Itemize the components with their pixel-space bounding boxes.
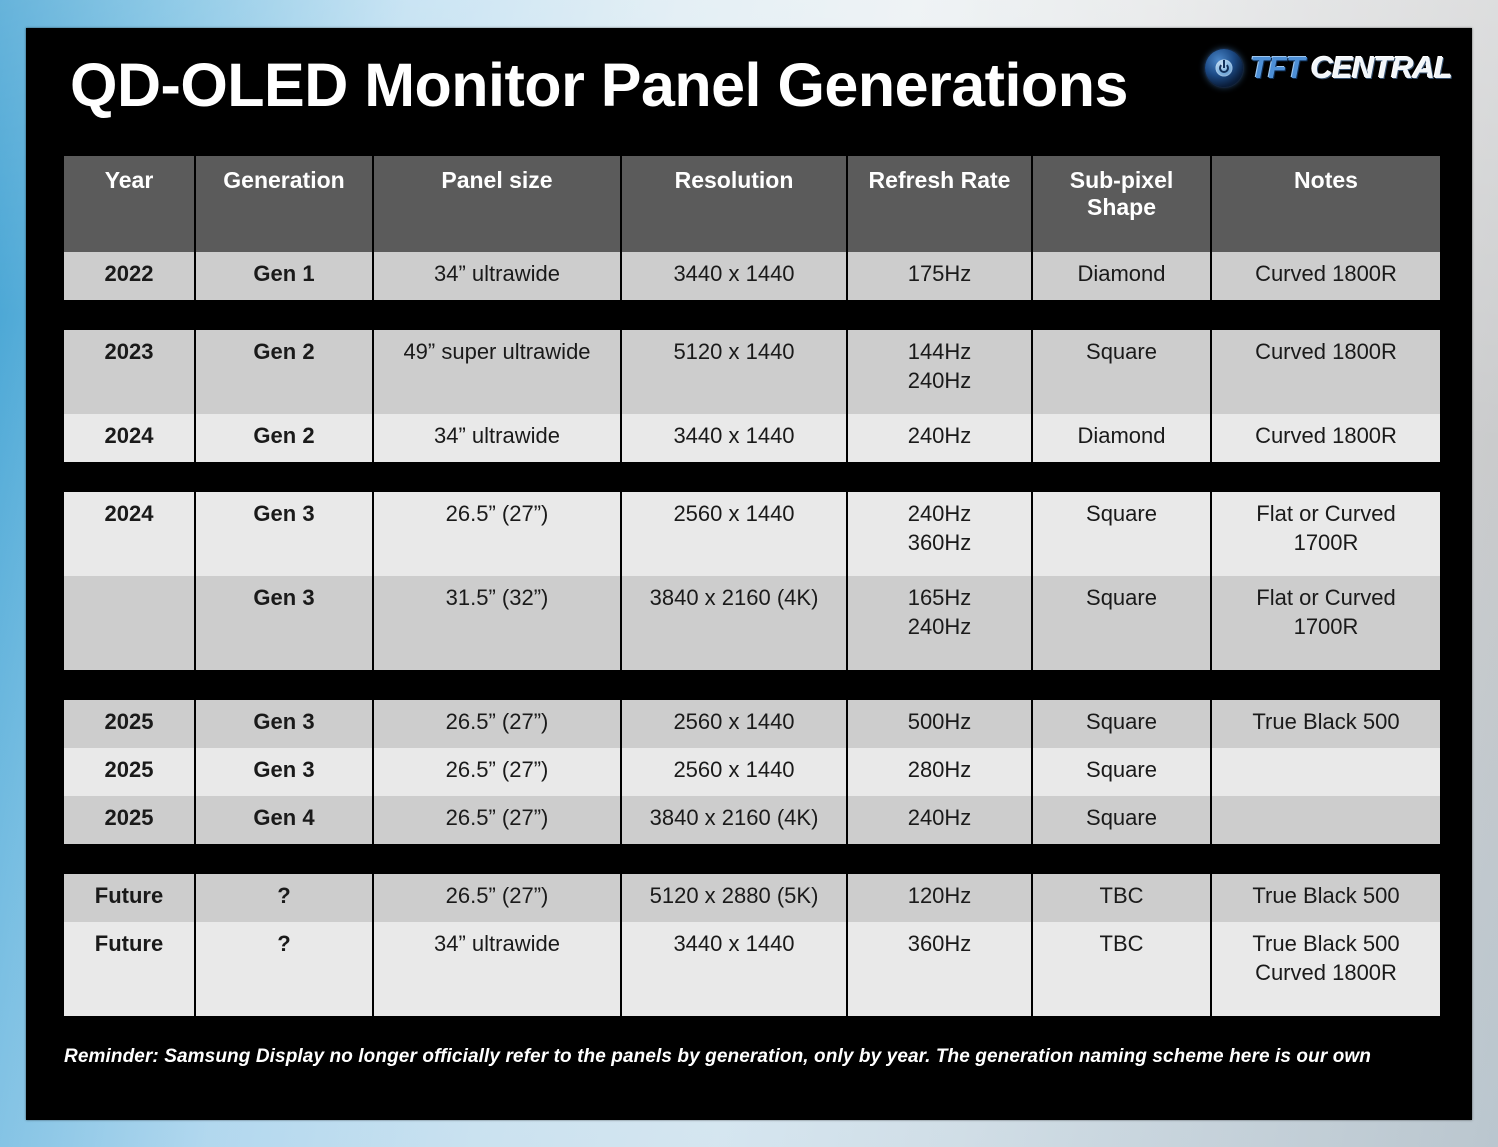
spacer-cell bbox=[1212, 670, 1440, 700]
cell-year: Future bbox=[64, 874, 194, 922]
spacer-cell bbox=[1212, 844, 1440, 874]
cell-year bbox=[64, 576, 194, 670]
table-spacer-row bbox=[64, 670, 1440, 700]
cell-generation: ? bbox=[196, 922, 372, 1016]
cell-sub-pixel: TBC bbox=[1033, 874, 1210, 922]
table-spacer-row bbox=[64, 300, 1440, 330]
cell-generation: Gen 3 bbox=[196, 748, 372, 796]
cell-sub-pixel: Square bbox=[1033, 330, 1210, 414]
cell-generation: Gen 3 bbox=[196, 576, 372, 670]
footnote-reminder: Reminder: Samsung Display no longer offi… bbox=[64, 1046, 1472, 1068]
header-row: Year Generation Panel size Resolution Re… bbox=[64, 156, 1440, 252]
column-header-refresh-rate: Refresh Rate bbox=[848, 156, 1031, 252]
cell-year: Future bbox=[64, 922, 194, 1016]
cell-refresh-rate: 360Hz bbox=[848, 922, 1031, 1016]
table-row: Gen 331.5” (32”)3840 x 2160 (4K)165Hz240… bbox=[64, 576, 1440, 670]
spacer-cell bbox=[196, 844, 372, 874]
spacer-cell bbox=[64, 844, 194, 874]
cell-refresh-rate: 240Hz360Hz bbox=[848, 492, 1031, 576]
cell-notes bbox=[1212, 748, 1440, 796]
cell-resolution: 2560 x 1440 bbox=[622, 492, 846, 576]
logo-word-central: CENTRAL bbox=[1311, 50, 1452, 86]
cell-generation: Gen 3 bbox=[196, 492, 372, 576]
spacer-cell bbox=[622, 844, 846, 874]
cell-notes: Flat or Curved1700R bbox=[1212, 576, 1440, 670]
cell-sub-pixel: Square bbox=[1033, 700, 1210, 748]
cell-generation: Gen 3 bbox=[196, 700, 372, 748]
table-row: 2025Gen 426.5” (27”)3840 x 2160 (4K)240H… bbox=[64, 796, 1440, 844]
spacer-cell bbox=[64, 462, 194, 492]
table-row: Future?26.5” (27”)5120 x 2880 (5K)120HzT… bbox=[64, 874, 1440, 922]
cell-generation: Gen 2 bbox=[196, 414, 372, 462]
spacer-cell bbox=[64, 300, 194, 330]
cell-refresh-rate: 175Hz bbox=[848, 252, 1031, 300]
spacer-cell bbox=[848, 844, 1031, 874]
spacer-cell bbox=[196, 300, 372, 330]
table-row: 2024Gen 326.5” (27”)2560 x 1440240Hz360H… bbox=[64, 492, 1440, 576]
sub-pixel-line-1: Sub-pixel bbox=[1070, 167, 1174, 193]
header: QD-OLED Monitor Panel Generations TFT CE… bbox=[26, 28, 1472, 156]
spacer-cell bbox=[848, 462, 1031, 492]
cell-sub-pixel: Square bbox=[1033, 576, 1210, 670]
cell-panel-size: 26.5” (27”) bbox=[374, 874, 620, 922]
cell-panel-size: 26.5” (27”) bbox=[374, 796, 620, 844]
cell-notes: Flat or Curved1700R bbox=[1212, 492, 1440, 576]
cell-year: 2025 bbox=[64, 796, 194, 844]
cell-sub-pixel: Square bbox=[1033, 748, 1210, 796]
cell-resolution: 3440 x 1440 bbox=[622, 922, 846, 1016]
logo-word-tft: TFT bbox=[1250, 50, 1304, 86]
cell-sub-pixel: Square bbox=[1033, 796, 1210, 844]
cell-panel-size: 26.5” (27”) bbox=[374, 492, 620, 576]
cell-sub-pixel: Diamond bbox=[1033, 252, 1210, 300]
table-row: 2023Gen 249” super ultrawide5120 x 14401… bbox=[64, 330, 1440, 414]
cell-notes: True Black 500Curved 1800R bbox=[1212, 922, 1440, 1016]
cell-resolution: 5120 x 2880 (5K) bbox=[622, 874, 846, 922]
cell-year: 2025 bbox=[64, 700, 194, 748]
cell-year: 2025 bbox=[64, 748, 194, 796]
page-title: QD-OLED Monitor Panel Generations bbox=[70, 50, 1128, 120]
sub-pixel-line-2: Shape bbox=[1087, 194, 1156, 220]
cell-refresh-rate: 240Hz bbox=[848, 414, 1031, 462]
cell-panel-size: 31.5” (32”) bbox=[374, 576, 620, 670]
table-row: 2024Gen 234” ultrawide3440 x 1440240HzDi… bbox=[64, 414, 1440, 462]
cell-generation: ? bbox=[196, 874, 372, 922]
cell-generation: Gen 4 bbox=[196, 796, 372, 844]
power-button-icon bbox=[1205, 49, 1243, 87]
cell-panel-size: 34” ultrawide bbox=[374, 922, 620, 1016]
column-header-panel-size: Panel size bbox=[374, 156, 620, 252]
spacer-cell bbox=[64, 670, 194, 700]
spacer-cell bbox=[622, 462, 846, 492]
cell-notes: Curved 1800R bbox=[1212, 330, 1440, 414]
cell-panel-size: 26.5” (27”) bbox=[374, 700, 620, 748]
spacer-cell bbox=[374, 670, 620, 700]
spacer-cell bbox=[374, 462, 620, 492]
cell-resolution: 3440 x 1440 bbox=[622, 252, 846, 300]
cell-notes: Curved 1800R bbox=[1212, 252, 1440, 300]
cell-sub-pixel: Square bbox=[1033, 492, 1210, 576]
tft-central-logo: TFT CENTRAL bbox=[1205, 46, 1452, 90]
table-row: 2025Gen 326.5” (27”)2560 x 1440500HzSqua… bbox=[64, 700, 1440, 748]
column-header-generation: Generation bbox=[196, 156, 372, 252]
column-header-notes: Notes bbox=[1212, 156, 1440, 252]
cell-resolution: 3440 x 1440 bbox=[622, 414, 846, 462]
column-header-resolution: Resolution bbox=[622, 156, 846, 252]
spacer-cell bbox=[1212, 462, 1440, 492]
spacer-cell bbox=[848, 670, 1031, 700]
spacer-cell bbox=[374, 844, 620, 874]
cell-refresh-rate: 120Hz bbox=[848, 874, 1031, 922]
panel-generations-table: Year Generation Panel size Resolution Re… bbox=[62, 156, 1442, 1016]
cell-panel-size: 34” ultrawide bbox=[374, 252, 620, 300]
cell-sub-pixel: TBC bbox=[1033, 922, 1210, 1016]
spacer-cell bbox=[848, 300, 1031, 330]
cell-refresh-rate: 144Hz240Hz bbox=[848, 330, 1031, 414]
cell-refresh-rate: 165Hz240Hz bbox=[848, 576, 1031, 670]
cell-year: 2023 bbox=[64, 330, 194, 414]
cell-panel-size: 34” ultrawide bbox=[374, 414, 620, 462]
table-body: 2022Gen 134” ultrawide3440 x 1440175HzDi… bbox=[64, 252, 1440, 1016]
spacer-cell bbox=[1033, 670, 1210, 700]
table-spacer-row bbox=[64, 462, 1440, 492]
slide-panel: QD-OLED Monitor Panel Generations TFT CE… bbox=[26, 28, 1472, 1120]
cell-panel-size: 49” super ultrawide bbox=[374, 330, 620, 414]
spacer-cell bbox=[1033, 300, 1210, 330]
cell-year: 2024 bbox=[64, 414, 194, 462]
spacer-cell bbox=[374, 300, 620, 330]
spacer-cell bbox=[196, 670, 372, 700]
spacer-cell bbox=[1212, 300, 1440, 330]
table-row: 2022Gen 134” ultrawide3440 x 1440175HzDi… bbox=[64, 252, 1440, 300]
table-header: Year Generation Panel size Resolution Re… bbox=[64, 156, 1440, 252]
cell-refresh-rate: 280Hz bbox=[848, 748, 1031, 796]
cell-notes: Curved 1800R bbox=[1212, 414, 1440, 462]
cell-sub-pixel: Diamond bbox=[1033, 414, 1210, 462]
spacer-cell bbox=[1033, 462, 1210, 492]
table-row: Future?34” ultrawide3440 x 1440360HzTBCT… bbox=[64, 922, 1440, 1016]
column-header-sub-pixel-shape: Sub-pixel Shape bbox=[1033, 156, 1210, 252]
table-spacer-row bbox=[64, 844, 1440, 874]
cell-generation: Gen 2 bbox=[196, 330, 372, 414]
cell-resolution: 3840 x 2160 (4K) bbox=[622, 576, 846, 670]
cell-panel-size: 26.5” (27”) bbox=[374, 748, 620, 796]
cell-year: 2024 bbox=[64, 492, 194, 576]
spacer-cell bbox=[622, 300, 846, 330]
cell-generation: Gen 1 bbox=[196, 252, 372, 300]
cell-refresh-rate: 240Hz bbox=[848, 796, 1031, 844]
cell-resolution: 3840 x 2160 (4K) bbox=[622, 796, 846, 844]
cell-notes: True Black 500 bbox=[1212, 700, 1440, 748]
spacer-cell bbox=[1033, 844, 1210, 874]
spacer-cell bbox=[196, 462, 372, 492]
cell-resolution: 2560 x 1440 bbox=[622, 748, 846, 796]
cell-resolution: 5120 x 1440 bbox=[622, 330, 846, 414]
spacer-cell bbox=[622, 670, 846, 700]
column-header-year: Year bbox=[64, 156, 194, 252]
cell-year: 2022 bbox=[64, 252, 194, 300]
cell-refresh-rate: 500Hz bbox=[848, 700, 1031, 748]
cell-resolution: 2560 x 1440 bbox=[622, 700, 846, 748]
cell-notes bbox=[1212, 796, 1440, 844]
cell-notes: True Black 500 bbox=[1212, 874, 1440, 922]
table-row: 2025Gen 326.5” (27”)2560 x 1440280HzSqua… bbox=[64, 748, 1440, 796]
